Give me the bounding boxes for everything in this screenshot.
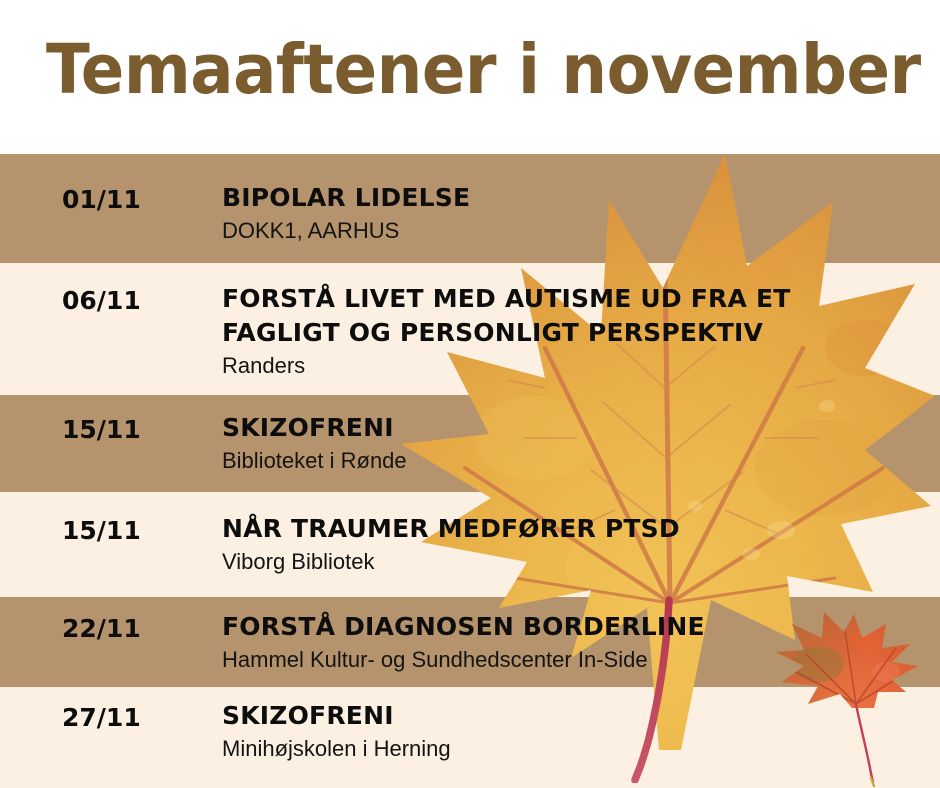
- event-venue: Viborg Bibliotek: [222, 548, 922, 576]
- schedule-row: 01/11 BIPOLAR LIDELSE DOKK1, AARHUS: [0, 153, 940, 263]
- schedule-row: 06/11 FORSTÅ LIVET MED AUTISME UD FRA ET…: [0, 263, 940, 395]
- page-title: Temaaftener i november: [46, 28, 921, 112]
- event-title: NÅR TRAUMER MEDFØRER PTSD: [222, 512, 922, 546]
- event-date: 27/11: [62, 703, 141, 733]
- schedule-row: 22/11 FORSTÅ DIAGNOSEN BORDERLINE Hammel…: [0, 597, 940, 687]
- event-date: 01/11: [62, 185, 141, 215]
- event-title: SKIZOFRENI: [222, 411, 922, 445]
- event-venue: DOKK1, AARHUS: [222, 217, 922, 245]
- event-venue: Biblioteket i Rønde: [222, 447, 922, 475]
- event-date: 06/11: [62, 286, 141, 316]
- poster-header: Temaaftener i november: [0, 0, 940, 154]
- event-title: FORSTÅ DIAGNOSEN BORDERLINE: [222, 610, 922, 644]
- event-body: FORSTÅ LIVET MED AUTISME UD FRA ET FAGLI…: [222, 282, 922, 380]
- event-title: FORSTÅ LIVET MED AUTISME UD FRA ET FAGLI…: [222, 282, 922, 350]
- event-title: BIPOLAR LIDELSE: [222, 181, 922, 215]
- event-venue: Minihøjskolen i Herning: [222, 735, 922, 763]
- schedule-row: 15/11 NÅR TRAUMER MEDFØRER PTSD Viborg B…: [0, 492, 940, 597]
- event-body: SKIZOFRENI Biblioteket i Rønde: [222, 411, 922, 475]
- schedule-row: 27/11 SKIZOFRENI Minihøjskolen i Herning: [0, 687, 940, 788]
- event-date: 15/11: [62, 415, 141, 445]
- event-venue: Hammel Kultur- og Sundhedscenter In-Side: [222, 646, 922, 674]
- event-date: 15/11: [62, 516, 141, 546]
- event-body: NÅR TRAUMER MEDFØRER PTSD Viborg Bibliot…: [222, 512, 922, 576]
- event-body: SKIZOFRENI Minihøjskolen i Herning: [222, 699, 922, 763]
- event-venue: Randers: [222, 352, 922, 380]
- event-body: BIPOLAR LIDELSE DOKK1, AARHUS: [222, 181, 922, 245]
- event-title: SKIZOFRENI: [222, 699, 922, 733]
- event-date: 22/11: [62, 614, 141, 644]
- schedule-row: 15/11 SKIZOFRENI Biblioteket i Rønde: [0, 395, 940, 492]
- event-body: FORSTÅ DIAGNOSEN BORDERLINE Hammel Kultu…: [222, 610, 922, 674]
- poster-canvas: Temaaftener i november 01/11 BIPOLAR LID…: [0, 0, 940, 788]
